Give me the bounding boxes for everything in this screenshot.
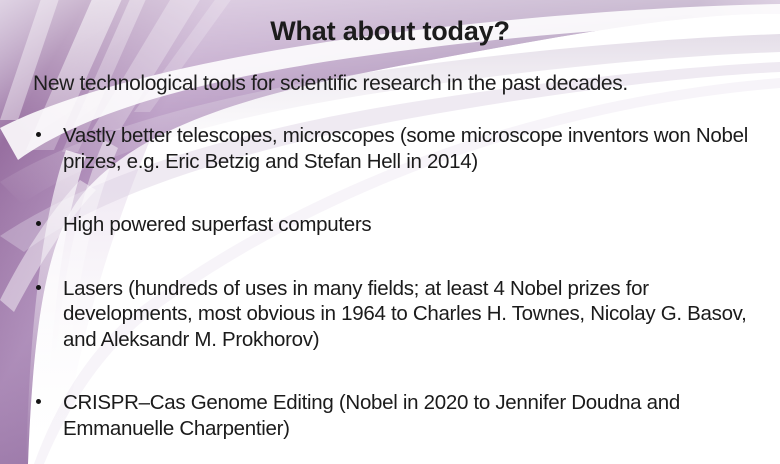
slide: What about today? New technological tool…: [0, 0, 780, 464]
bullet-item: Lasers (hundreds of uses in many fields;…: [0, 276, 780, 353]
bullet-text: Vastly better telescopes, microscopes (s…: [63, 123, 758, 174]
bullet-text: Lasers (hundreds of uses in many fields;…: [63, 276, 758, 353]
bullet-item: High powered superfast computers: [0, 212, 780, 238]
bullet-dot-icon: [36, 132, 41, 137]
bullet-spacer: [0, 174, 780, 212]
bullet-text: CRISPR–Cas Genome Editing (Nobel in 2020…: [63, 390, 758, 441]
bullet-spacer: [0, 238, 780, 276]
bullet-text: High powered superfast computers: [63, 212, 758, 238]
bullet-dot-icon: [36, 221, 41, 226]
bullet-dot-icon: [36, 399, 41, 404]
slide-subtitle: New technological tools for scientific r…: [33, 72, 753, 96]
bullet-list: Vastly better telescopes, microscopes (s…: [0, 123, 780, 441]
bullet-spacer: [0, 352, 780, 390]
slide-title: What about today?: [0, 16, 780, 47]
bullet-item: Vastly better telescopes, microscopes (s…: [0, 123, 780, 174]
bullet-dot-icon: [36, 285, 41, 290]
bullet-item: CRISPR–Cas Genome Editing (Nobel in 2020…: [0, 390, 780, 441]
